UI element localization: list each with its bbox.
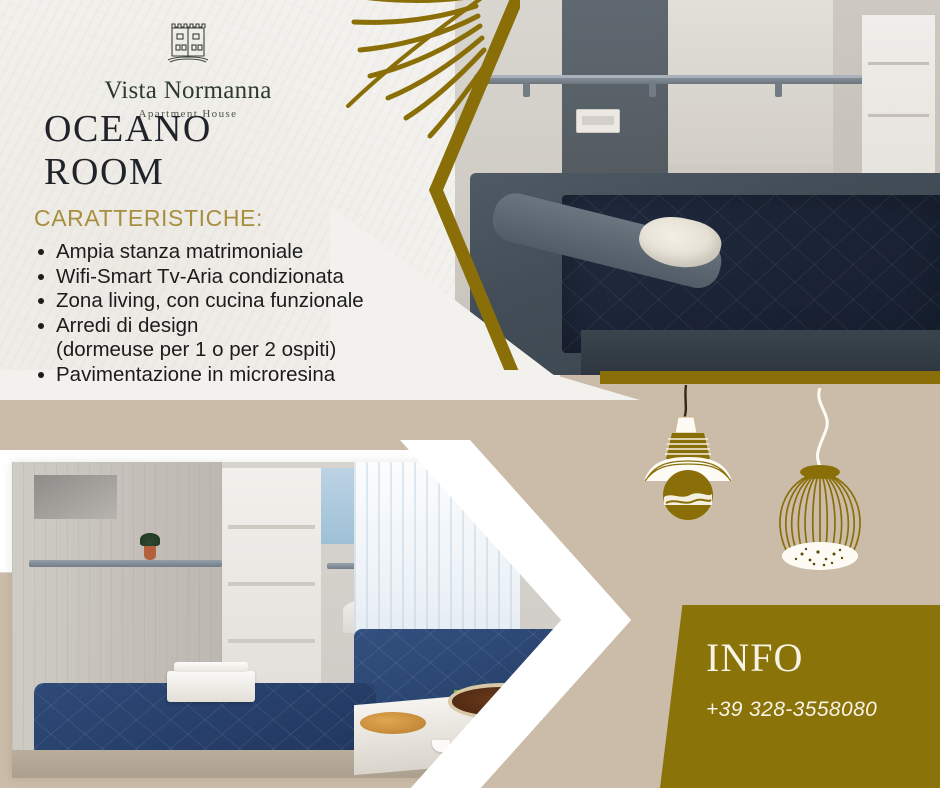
room-title-line2: ROOM [44,151,374,194]
feature-item: Arredi di design [36,314,456,339]
info-title: INFO [706,638,803,678]
feature-item: Wifi-Smart Tv-Aria condizionata [36,265,456,290]
brand-logo-block: Vista Normanna Apartment House [78,18,298,120]
feature-item: Ampia stanza matrimoniale [36,240,456,265]
photo-bedroom-dormeuse [455,0,940,375]
castle-tower-icon [158,18,218,74]
pendant-lamp-cone-icon [628,385,748,545]
feature-item: (dormeuse per 1 o per 2 ospiti) [36,338,456,363]
gold-divider-strip [600,371,940,384]
feature-item: Zona living, con cucina funzionale [36,289,456,314]
info-phone-number[interactable]: +39 328-3558080 [706,698,877,722]
pendant-lamp-cage-icon [756,388,886,593]
brand-name: Vista Normanna [78,78,298,103]
feature-item: Pavimentazione in microresina [36,363,456,388]
page-title: OCEANO ROOM [44,108,374,193]
info-panel [660,605,940,788]
room-title-line1: OCEANO [44,108,374,151]
features-heading: CARATTERISTICHE: [34,205,263,232]
features-list: Ampia stanza matrimonialeWifi-Smart Tv-A… [14,240,456,388]
room-promo-poster: Vista Normanna Apartment House OCEANO RO… [0,0,940,788]
